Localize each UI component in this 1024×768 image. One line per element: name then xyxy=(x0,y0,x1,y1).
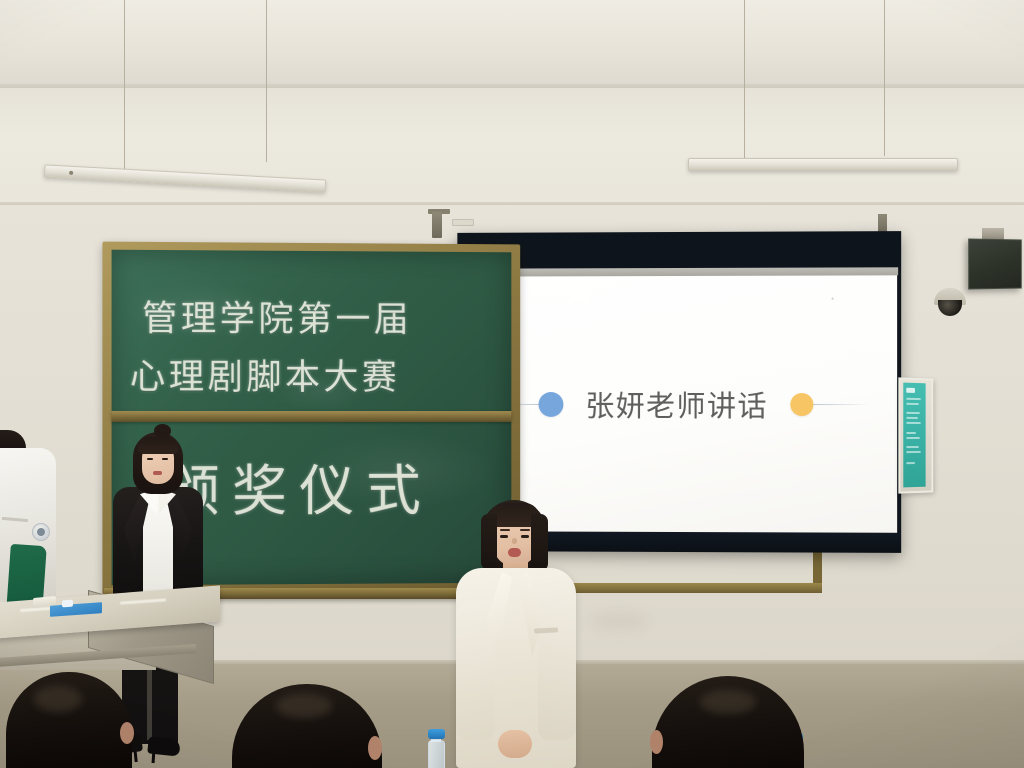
eye-right xyxy=(162,458,168,460)
classroom-photo-scene: 张妍老师讲话 管理学院第一届 心理剧脚本大赛 颁奖仪式 xyxy=(0,0,1024,768)
hair-fringe xyxy=(138,437,178,454)
speaker-eye-right xyxy=(521,535,529,538)
speaker-eye-left xyxy=(500,535,508,538)
speaker-hair-right xyxy=(531,514,548,572)
mouth xyxy=(153,471,162,475)
student-ear xyxy=(120,722,134,744)
wall-upper xyxy=(0,88,1024,208)
slide-content-row: 张妍老师讲话 xyxy=(460,383,897,425)
screen-surface: 张妍老师讲话 xyxy=(460,275,897,532)
ceiling xyxy=(0,0,1024,86)
hair-highlight xyxy=(276,694,332,718)
chalk-text-line-1: 管理学院第一届 xyxy=(142,290,412,342)
hair-highlight xyxy=(34,686,82,712)
notice-content xyxy=(903,383,925,488)
uniform-badge-inner xyxy=(37,528,45,536)
water-bottle[interactable] xyxy=(428,740,445,768)
hair-highlight xyxy=(700,690,756,714)
light-wire xyxy=(266,0,267,162)
light-wire xyxy=(124,0,125,172)
slide-title: 张妍老师讲话 xyxy=(564,383,791,425)
screen-mount-left xyxy=(432,212,442,238)
folder-label xyxy=(62,600,73,608)
slide-line-right xyxy=(813,404,869,405)
light-wire xyxy=(744,0,745,158)
chalk-text-line-2: 心理剧脚本大赛 xyxy=(130,349,400,401)
wall-smudge xyxy=(590,612,650,630)
speaker-nose xyxy=(512,538,517,544)
screen-casing-top xyxy=(457,231,901,269)
speaker-clasped-hands xyxy=(498,730,532,758)
student-ear xyxy=(368,736,382,760)
speaker-mouth xyxy=(508,548,521,557)
slide-dot-blue xyxy=(539,392,564,417)
brow-left xyxy=(500,529,510,531)
slide-dot-yellow xyxy=(790,393,813,416)
brow-right xyxy=(520,529,530,531)
wall-notice-board[interactable] xyxy=(898,377,933,493)
wall-switch-plate xyxy=(452,219,474,226)
student-ear xyxy=(650,730,663,754)
light-wire xyxy=(884,0,885,156)
wall-speaker xyxy=(968,239,1022,290)
chalk-text-line-3: 颁奖仪式 xyxy=(164,446,433,527)
hair-bun xyxy=(154,424,171,438)
eye-left xyxy=(147,458,153,460)
speaker-hair-left xyxy=(481,514,497,570)
screen-speck xyxy=(832,298,834,300)
bottle-cap xyxy=(428,729,445,739)
chalkboard-middle-rail xyxy=(112,411,512,422)
ceiling-light-right xyxy=(688,158,958,171)
